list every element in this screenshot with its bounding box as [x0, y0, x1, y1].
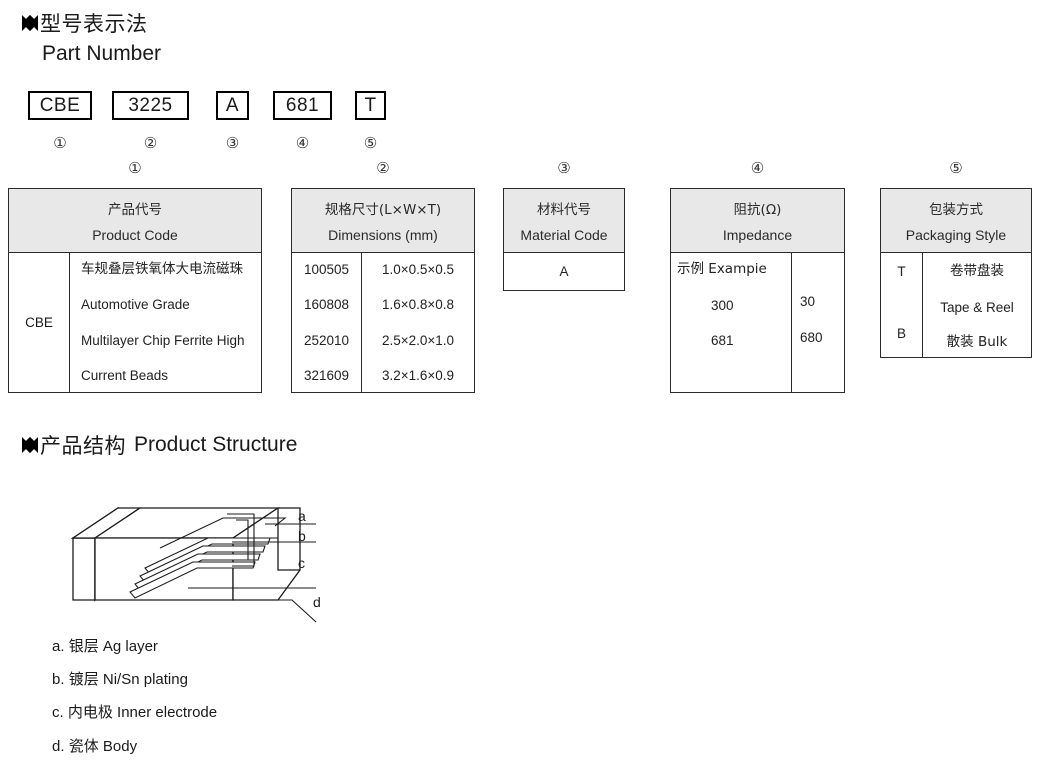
part-number-marker-3: ③ [216, 134, 249, 152]
product-code-cell: CBE [9, 253, 70, 392]
legend-item-a: a. 银层 Ag layer [52, 635, 158, 656]
part-number-box-1-value: CBE [40, 95, 81, 117]
impedance-code-2: 681 [671, 334, 734, 348]
part-number-box-4[interactable]: 681 [273, 91, 332, 120]
chip-structure-illustration [60, 470, 350, 630]
part-number-marker-1: ① [28, 134, 92, 152]
impedance-ohms-column: 30 680 [792, 253, 844, 392]
part-number-marker-4: ④ [273, 134, 332, 152]
impedance-code-column: 示例 Exampie 300 681 [671, 253, 792, 392]
material-code-table-body: A [504, 253, 624, 290]
product-code-header-en: Product Code [92, 227, 178, 243]
legend-key-a: a. [52, 638, 65, 655]
product-structure-heading-cn: 产品结构 [40, 430, 126, 460]
impedance-code-1: 300 [671, 299, 734, 313]
product-code-description: 车规叠层铁氧体大电流磁珠 Automotive Grade Multilayer… [70, 253, 261, 392]
packaging-table-body: T B 卷带盘装 Tape & Reel 散装 Bulk [881, 253, 1031, 357]
part-number-marker-5: ⑤ [355, 134, 386, 152]
product-code-value: CBE [25, 315, 53, 330]
impedance-table-body: 示例 Exampie 300 681 30 680 [671, 253, 844, 392]
part-number-box-5-value: T [364, 95, 376, 117]
legend-en-b: Ni/Sn plating [103, 671, 188, 688]
material-code-value: A [559, 265, 568, 279]
diamond-bullet-icon [22, 15, 38, 31]
product-structure-diagram [60, 470, 350, 630]
impedance-header-cn: 阻抗(Ω) [734, 198, 782, 218]
callout-label-a: a [298, 508, 306, 524]
impedance-ohms-1: 30 [800, 295, 815, 309]
dimensions-table-body: 100505 160808 252010 321609 1.0×0.5×0.5 … [292, 253, 474, 392]
packaging-code-column: T B [881, 253, 923, 357]
dimensions-header-en: Dimensions (mm) [328, 227, 438, 243]
product-code-table-header: 产品代号 Product Code [9, 189, 261, 253]
material-code-table: 材料代号 Material Code A [503, 188, 625, 291]
part-number-heading: 型号表示法 [22, 8, 148, 38]
dimensions-size-3: 2.5×2.0×1.0 [382, 334, 454, 348]
product-code-table: 产品代号 Product Code CBE 车规叠层铁氧体大电流磁珠 Autom… [8, 188, 262, 393]
product-code-desc-line-1: 车规叠层铁氧体大电流磁珠 [81, 263, 261, 277]
product-code-table-body: CBE 车规叠层铁氧体大电流磁珠 Automotive Grade Multil… [9, 253, 261, 392]
impedance-table-header: 阻抗(Ω) Impedance [671, 189, 844, 253]
dimensions-code-4: 321609 [304, 369, 349, 383]
part-number-box-1[interactable]: CBE [28, 91, 92, 120]
part-number-box-3[interactable]: A [216, 91, 249, 120]
dimensions-header-cn: 规格尺寸(L×W×T) [325, 198, 441, 218]
part-number-heading-cn: 型号表示法 [40, 8, 148, 38]
dimensions-code-column: 100505 160808 252010 321609 [292, 253, 362, 392]
product-structure-heading-en: Product Structure [134, 433, 297, 457]
legend-en-d: Body [103, 738, 137, 755]
packaging-code-2: B [897, 327, 906, 341]
part-number-box-2-value: 3225 [128, 95, 172, 117]
packaging-label-2-cn: 散装 Bulk [947, 336, 1008, 350]
packaging-label-column: 卷带盘装 Tape & Reel 散装 Bulk [923, 253, 1031, 357]
packaging-label-1-en: Tape & Reel [940, 301, 1014, 315]
dimensions-size-1: 1.0×0.5×0.5 [382, 263, 454, 277]
product-code-header-cn: 产品代号 [108, 198, 162, 218]
legend-cn-c: 内电极 [68, 703, 113, 721]
legend-cn-d: 瓷体 [69, 737, 99, 755]
packaging-table-header: 包装方式 Packaging Style [881, 189, 1031, 253]
legend-cn-b: 镀层 [69, 670, 99, 688]
product-code-desc-line-3: Multilayer Chip Ferrite High [81, 334, 261, 348]
dimensions-table-header: 规格尺寸(L×W×T) Dimensions (mm) [292, 189, 474, 253]
packaging-header-cn: 包装方式 [929, 198, 983, 218]
part-number-heading-en-wrap: Part Number [42, 42, 161, 66]
callout-label-d: d [313, 594, 321, 610]
legend-item-c: c. 内电极 Inner electrode [52, 701, 217, 722]
part-number-marker-2: ② [112, 134, 189, 152]
legend-item-d: d. 瓷体 Body [52, 735, 137, 756]
dimensions-code-3: 252010 [304, 334, 349, 348]
packaging-code-1: T [897, 265, 905, 279]
product-code-desc-line-4: Current Beads [81, 369, 261, 383]
dimensions-code-2: 160808 [304, 298, 349, 312]
packaging-table-marker: ⑤ [880, 159, 1032, 177]
callout-label-c: c [298, 555, 305, 571]
legend-en-c: Inner electrode [117, 704, 217, 721]
dimensions-code-1: 100505 [304, 263, 349, 277]
impedance-table: 阻抗(Ω) Impedance 示例 Exampie 300 681 30 68… [670, 188, 845, 393]
material-code-header-en: Material Code [520, 227, 607, 243]
legend-key-d: d. [52, 738, 65, 755]
diamond-bullet-icon-2 [22, 437, 38, 453]
dimensions-size-column: 1.0×0.5×0.5 1.6×0.8×0.8 2.5×2.0×1.0 3.2×… [362, 253, 474, 392]
legend-key-b: b. [52, 671, 65, 688]
dimensions-table-marker: ② [291, 159, 475, 177]
legend-item-b: b. 镀层 Ni/Sn plating [52, 668, 188, 689]
product-code-desc-line-2: Automotive Grade [81, 298, 261, 312]
impedance-example-label: 示例 Exampie [671, 263, 767, 277]
material-code-header-cn: 材料代号 [537, 198, 591, 218]
callout-label-b: b [298, 528, 306, 544]
part-number-box-4-value: 681 [286, 95, 319, 117]
material-code-table-marker: ③ [503, 159, 625, 177]
impedance-ohms-2: 680 [800, 331, 823, 345]
part-number-box-3-value: A [226, 95, 239, 117]
product-code-table-marker: ① [8, 159, 262, 177]
part-number-heading-en: Part Number [42, 42, 161, 65]
packaging-table: 包装方式 Packaging Style T B 卷带盘装 Tape & Ree… [880, 188, 1032, 358]
dimensions-size-4: 3.2×1.6×0.9 [382, 369, 454, 383]
packaging-header-en: Packaging Style [906, 227, 1006, 243]
impedance-header-en: Impedance [723, 227, 792, 243]
legend-cn-a: 银层 [69, 637, 99, 655]
product-structure-heading: 产品结构 Product Structure [22, 430, 297, 460]
part-number-box-5[interactable]: T [355, 91, 386, 120]
legend-en-a: Ag layer [103, 638, 158, 655]
material-code-table-header: 材料代号 Material Code [504, 189, 624, 253]
packaging-label-1-cn: 卷带盘装 [950, 265, 1004, 279]
dimensions-size-2: 1.6×0.8×0.8 [382, 298, 454, 312]
legend-key-c: c. [52, 704, 64, 721]
part-number-box-2[interactable]: 3225 [112, 91, 189, 120]
impedance-table-marker: ④ [670, 159, 845, 177]
dimensions-table: 规格尺寸(L×W×T) Dimensions (mm) 100505 16080… [291, 188, 475, 393]
